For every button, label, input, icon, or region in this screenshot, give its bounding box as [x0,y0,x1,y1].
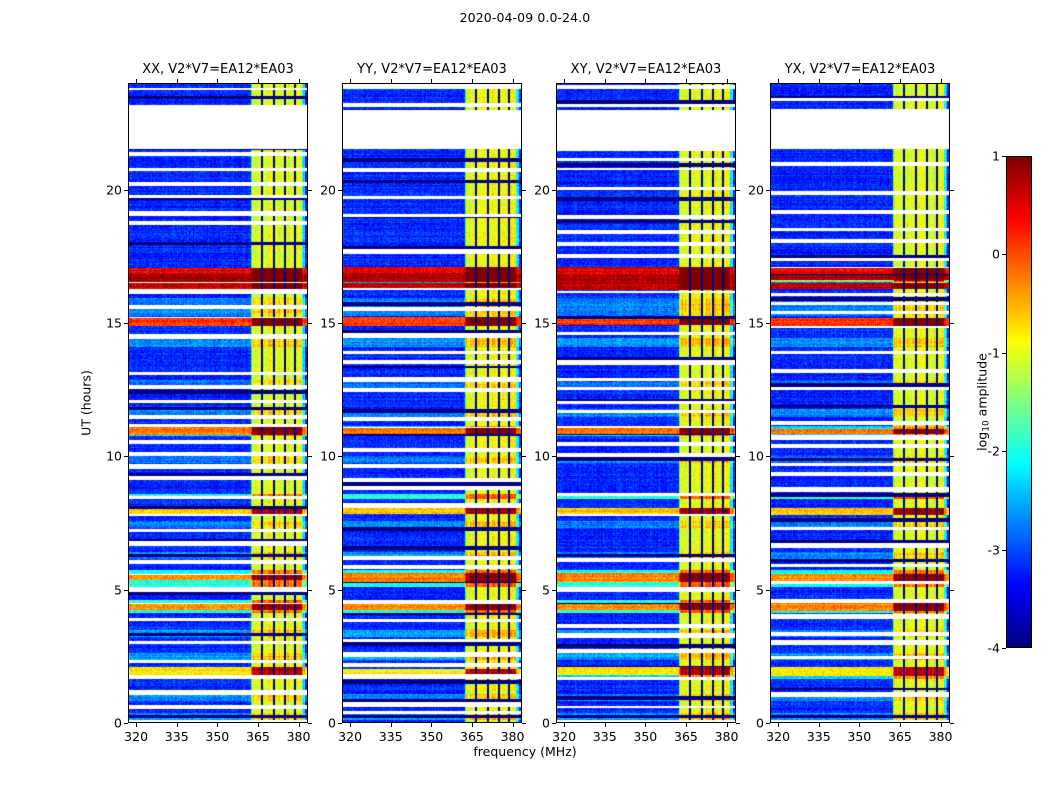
panel-yy-ytick-right-5 [522,590,526,591]
panel-xx-xticklabel-1: 335 [165,729,189,744]
panel-xy-ytick-right-15 [736,323,740,324]
panel-xx-xtick-top-380 [299,79,300,83]
panel-yx-xtick-335 [819,723,820,727]
colorbar-tick-4 [1002,254,1006,255]
panel-xy-xticklabel-4: 380 [715,729,739,744]
panel-yx-yticklabel-2: 10 [748,449,764,464]
panel-xy-xticklabel-0: 320 [552,729,576,744]
panel-xx-ytick-right-15 [308,323,312,324]
panel-xy-yticklabel-4: 20 [534,182,550,197]
panel-xx-xticklabel-0: 320 [124,729,148,744]
panel-xx-ytick-right-0 [308,723,312,724]
panel-xy-ytick-right-0 [736,723,740,724]
panel-xy-ytick-0 [552,723,556,724]
colorbar-label-sub: 10 [982,420,992,431]
panel-yy-title: YY, V2*V7=EA12*EA03 [357,62,507,77]
panel-xy-xtick-320 [564,723,565,727]
panel-xx-title: XX, V2*V7=EA12*EA03 [142,62,294,77]
panel-yy-xtick-top-365 [472,79,473,83]
x-axis-label: frequency (MHz) [0,744,1050,759]
panel-yx-yticklabel-1: 5 [756,582,764,597]
panel-yx-xtick-top-320 [778,79,779,83]
y-axis-label: UT (hours) [79,370,94,436]
panel-xy-ytick-10 [552,456,556,457]
panel-yx-xtick-320 [778,723,779,727]
panel-yx-ytick-0 [766,723,770,724]
panel-xx-ytick-20 [124,190,128,191]
panel-xy-xticklabel-3: 365 [674,729,698,744]
panel-yy-yticklabel-1: 5 [328,582,336,597]
colorbar-ticklabel-5: 1 [992,149,1000,164]
panel-xy-ytick-right-5 [736,590,740,591]
panel-yy-xtick-380 [513,723,514,727]
panel-xx-ytick-right-10 [308,456,312,457]
panel-xx-ytick-0 [124,723,128,724]
panel-xx-ytick-5 [124,590,128,591]
panel-yx-xticklabel-1: 335 [807,729,831,744]
panel-yy-waterfall [343,84,522,723]
panel-yx-xtick-365 [900,723,901,727]
panel-xx-xtick-380 [299,723,300,727]
panel-yy-xticklabel-0: 320 [338,729,362,744]
panel-yy-yticklabel-0: 0 [328,716,336,731]
figure-canvas: 2020-04-09 0.0-24.0 frequency (MHz) UT (… [0,0,1050,800]
panel-yx-title: YX, V2*V7=EA12*EA03 [785,62,936,77]
panel-xy-axes [556,83,736,723]
panel-xy-yticklabel-3: 15 [534,316,550,331]
panel-yy-xtick-top-335 [391,79,392,83]
panel-xy-ytick-5 [552,590,556,591]
panel-yy-xtick-320 [350,723,351,727]
panel-yy-ytick-20 [338,190,342,191]
panel-yy-xtick-335 [391,723,392,727]
panel-yy-xtick-top-320 [350,79,351,83]
panel-yx-waterfall [771,84,950,723]
panel-yx-yticklabel-4: 20 [748,182,764,197]
panel-yy-xticklabel-3: 365 [460,729,484,744]
panel-yy-ytick-5 [338,590,342,591]
panel-yx-xtick-350 [859,723,860,727]
panel-xy-xtick-top-365 [686,79,687,83]
panel-yy-ytick-15 [338,323,342,324]
panel-xy-xtick-top-320 [564,79,565,83]
panel-xx-axes [128,83,308,723]
panel-xy-yticklabel-0: 0 [542,716,550,731]
panel-yx-xtick-top-350 [859,79,860,83]
panel-xy-xtick-335 [605,723,606,727]
panel-xy-xtick-350 [645,723,646,727]
panel-xx-yticklabel-1: 5 [114,582,122,597]
panel-yy-xtick-350 [431,723,432,727]
panel-yx-ytick-10 [766,456,770,457]
panel-xy-yticklabel-1: 5 [542,582,550,597]
panel-xx-yticklabel-2: 10 [106,449,122,464]
panel-xx-xticklabel-2: 350 [205,729,229,744]
panel-yy-xticklabel-4: 380 [501,729,525,744]
colorbar-tick-0 [1002,648,1006,649]
panel-yx-yticklabel-0: 0 [756,716,764,731]
panel-yx-ytick-right-0 [950,723,954,724]
panel-xy-ytick-15 [552,323,556,324]
panel-yy-ytick-right-15 [522,323,526,324]
colorbar-tick-2 [1002,451,1006,452]
panel-yx-xtick-top-380 [941,79,942,83]
panel-yx-xtick-top-365 [900,79,901,83]
panel-xx-xtick-top-365 [258,79,259,83]
colorbar: -4-3-2-101 [1006,156,1032,648]
panel-yx-axes [770,83,950,723]
panel-yy: YY, V2*V7=EA12*EA03320335350365380051015… [342,83,522,723]
panel-xy-title: XY, V2*V7=EA12*EA03 [571,62,722,77]
panel-xy-xticklabel-2: 350 [633,729,657,744]
panel-yy-yticklabel-3: 15 [320,316,336,331]
colorbar-label: log10 amplitude [975,353,990,451]
panel-xx-xtick-320 [136,723,137,727]
panel-yx-ytick-15 [766,323,770,324]
colorbar-ticklabel-1: -3 [988,542,1000,557]
panel-yx-ytick-20 [766,190,770,191]
panel-yy-xtick-top-350 [431,79,432,83]
panel-yx-ytick-right-20 [950,190,954,191]
panel-yx-ytick-5 [766,590,770,591]
panel-yy-ytick-right-10 [522,456,526,457]
panel-yy-xtick-top-380 [513,79,514,83]
panel-yy-yticklabel-2: 10 [320,449,336,464]
panel-xx-ytick-right-5 [308,590,312,591]
panel-yx-ytick-right-5 [950,590,954,591]
panel-xx: XX, V2*V7=EA12*EA03320335350365380051015… [128,83,308,723]
figure-suptitle: 2020-04-09 0.0-24.0 [0,10,1050,25]
panel-xx-yticklabel-4: 20 [106,182,122,197]
panel-yy-axes [342,83,522,723]
panel-xx-ytick-10 [124,456,128,457]
panel-xy-xtick-380 [727,723,728,727]
colorbar-ticklabel-4: 0 [992,247,1000,262]
colorbar-tick-5 [1002,156,1006,157]
panel-xx-yticklabel-0: 0 [114,716,122,731]
colorbar-tick-1 [1002,550,1006,551]
colorbar-label-main: log [975,432,990,451]
panel-xx-xtick-top-350 [217,79,218,83]
panel-yx-yticklabel-3: 15 [748,316,764,331]
panel-xy-ytick-right-20 [736,190,740,191]
panel-xy: XY, V2*V7=EA12*EA03320335350365380051015… [556,83,736,723]
panel-xx-waterfall [129,84,308,723]
colorbar-tick-3 [1002,353,1006,354]
panel-yy-xticklabel-1: 335 [379,729,403,744]
panel-xx-xticklabel-4: 380 [287,729,311,744]
panel-xx-xtick-top-335 [177,79,178,83]
panel-xy-waterfall [557,84,736,723]
panel-yx-xtick-380 [941,723,942,727]
panel-xx-yticklabel-3: 15 [106,316,122,331]
panel-xy-xtick-365 [686,723,687,727]
panel-xx-xtick-top-320 [136,79,137,83]
panel-yy-ytick-right-0 [522,723,526,724]
panel-xx-xtick-365 [258,723,259,727]
panel-yx-xticklabel-2: 350 [847,729,871,744]
panel-xy-xtick-top-350 [645,79,646,83]
panel-xx-ytick-right-20 [308,190,312,191]
panel-yy-xtick-365 [472,723,473,727]
panel-yx-ytick-right-10 [950,456,954,457]
panel-xx-ytick-15 [124,323,128,324]
panel-yy-ytick-10 [338,456,342,457]
panel-yy-ytick-right-20 [522,190,526,191]
panel-xx-xticklabel-3: 365 [246,729,270,744]
panel-xy-yticklabel-2: 10 [534,449,550,464]
panel-xy-xtick-top-380 [727,79,728,83]
panel-yx-ytick-right-15 [950,323,954,324]
panel-yy-xticklabel-2: 350 [419,729,443,744]
panel-xx-xtick-350 [217,723,218,727]
panel-xy-xticklabel-1: 335 [593,729,617,744]
panel-yy-yticklabel-4: 20 [320,182,336,197]
panel-xy-ytick-20 [552,190,556,191]
colorbar-gradient [1006,156,1032,648]
panel-yx-xticklabel-4: 380 [929,729,953,744]
colorbar-label-rest: amplitude [975,353,990,420]
panel-xy-ytick-right-10 [736,456,740,457]
panel-yx: YX, V2*V7=EA12*EA03320335350365380051015… [770,83,950,723]
panel-yx-xticklabel-3: 365 [888,729,912,744]
panel-yx-xticklabel-0: 320 [766,729,790,744]
colorbar-ticklabel-0: -4 [988,641,1000,656]
panel-xx-xtick-335 [177,723,178,727]
panel-yy-ytick-0 [338,723,342,724]
panel-xy-xtick-top-335 [605,79,606,83]
panel-yx-xtick-top-335 [819,79,820,83]
